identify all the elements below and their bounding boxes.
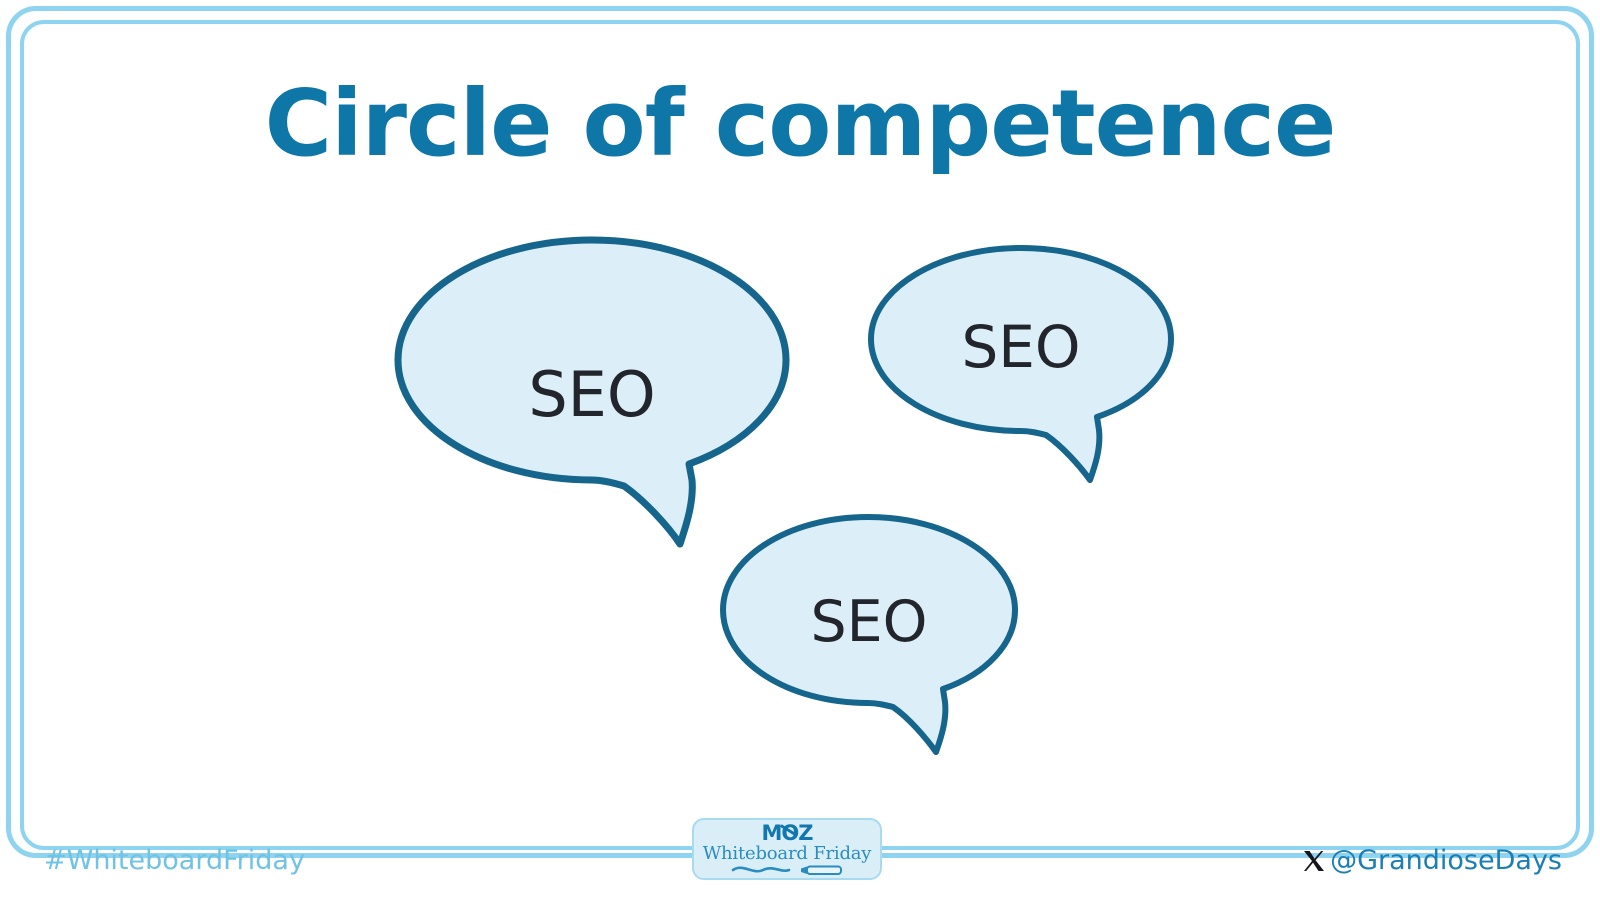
whiteboard-canvas: Circle of competence SEO SEO SEO #Whiteb… — [0, 0, 1600, 900]
x-logo-icon — [1302, 849, 1326, 873]
footer-social-handle[interactable]: @GrandioseDays — [1302, 845, 1562, 876]
footer-hashtag: #WhiteboardFriday — [44, 845, 305, 876]
speech-bubble-3[interactable]: SEO — [718, 512, 1020, 762]
moz-wordmark-text: MOZ — [762, 821, 813, 845]
speech-bubble-2-label: SEO — [866, 318, 1176, 376]
speech-bubble-1-label: SEO — [392, 364, 792, 426]
speech-bubble-3-label: SEO — [718, 594, 1020, 651]
moz-whiteboard-friday-badge[interactable]: MOZ Whiteboard Friday — [692, 818, 882, 880]
page-title: Circle of competence — [0, 78, 1600, 170]
footer-handle-text: @GrandioseDays — [1330, 845, 1562, 876]
marker-squiggle-icon — [727, 864, 847, 878]
speech-bubble-2[interactable]: SEO — [866, 243, 1176, 491]
moz-wordmark: MOZ — [762, 823, 813, 844]
badge-subtitle: Whiteboard Friday — [703, 845, 872, 864]
